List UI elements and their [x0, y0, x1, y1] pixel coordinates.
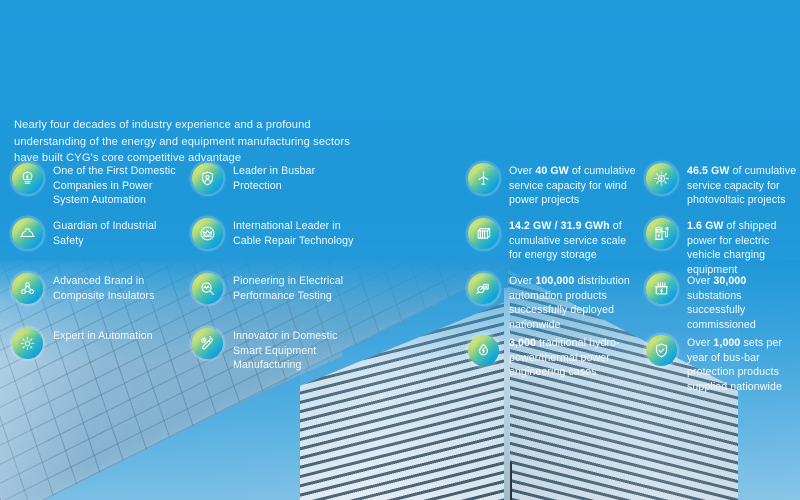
list-item[interactable]: Guardian of Industrial Safety — [12, 218, 190, 249]
list-item[interactable]: Over 1,000 sets per year of bus-bar prot… — [646, 335, 798, 394]
list-item-label: Innovator in Domestic Smart Equipment Ma… — [233, 328, 367, 373]
list-item-label: 14.2 GW / 31.9 GWh of cumulative service… — [509, 218, 640, 263]
list-item[interactable]: Over 40 GW of cumulative service capacit… — [468, 163, 640, 208]
photovoltaic-sun-icon — [646, 163, 677, 194]
crown-cable-repair-icon — [192, 218, 223, 249]
list-item[interactable]: 3,000 traditional hydro-power/thermal po… — [468, 335, 640, 380]
metric-value: 14.2 GW / 31.9 GWh — [509, 220, 610, 232]
list-item-label: 1.6 GW of shipped power for electric veh… — [687, 218, 798, 277]
list-item-label: One of the First Domestic Companies in P… — [53, 163, 190, 208]
list-item[interactable]: Over 30,000 substations successfully com… — [646, 273, 798, 332]
electrical-testing-icon — [192, 273, 223, 304]
list-item-label: 46.5 GW of cumulative service capacity f… — [687, 163, 798, 208]
list-item[interactable]: Leader in Busbar Protection — [192, 163, 367, 194]
list-item[interactable]: Advanced Brand in Composite Insulators — [12, 273, 190, 304]
metric-value: 3,000 — [509, 337, 536, 349]
metric-value: 46.5 GW — [687, 165, 730, 177]
list-item-label: Guardian of Industrial Safety — [53, 218, 190, 248]
energy-storage-icon — [468, 218, 499, 249]
metric-value: 1,000 — [713, 337, 740, 349]
metric-value: 30,000 — [713, 275, 746, 287]
list-item[interactable]: 1.6 GW of shipped power for electric veh… — [646, 218, 798, 277]
list-item-label: Pioneering in Electrical Performance Tes… — [233, 273, 367, 303]
list-item[interactable]: One of the First Domestic Companies in P… — [12, 163, 190, 208]
list-item[interactable]: Over 100,000 distribution automation pro… — [468, 273, 640, 332]
gear-automation-icon — [12, 328, 43, 359]
list-item-label: Leader in Busbar Protection — [233, 163, 367, 193]
smart-equipment-icon — [192, 328, 223, 359]
list-item[interactable]: International Leader in Cable Repair Tec… — [192, 218, 367, 249]
metric-value: 100,000 — [535, 275, 574, 287]
list-item-label: Over 30,000 substations successfully com… — [687, 273, 798, 332]
hydro-thermal-power-icon — [468, 335, 499, 366]
wind-turbine-icon — [468, 163, 499, 194]
list-item-label: Advanced Brand in Composite Insulators — [53, 273, 190, 303]
list-item[interactable]: 46.5 GW of cumulative service capacity f… — [646, 163, 798, 208]
list-item-label: Over 40 GW of cumulative service capacit… — [509, 163, 640, 208]
hard-hat-icon — [12, 218, 43, 249]
busbar-protection-icon — [192, 163, 223, 194]
metric-value: 1.6 GW — [687, 220, 724, 232]
intro-paragraph: Nearly four decades of industry experien… — [14, 117, 374, 167]
distribution-automation-icon — [468, 273, 499, 304]
poster-content: Nearly four decades of industry experien… — [0, 0, 800, 500]
shield-check-icon — [646, 335, 677, 366]
list-item[interactable]: 14.2 GW / 31.9 GWh of cumulative service… — [468, 218, 640, 263]
list-item[interactable]: Expert in Automation — [12, 328, 190, 359]
list-item-label: Over 100,000 distribution automation pro… — [509, 273, 640, 332]
poster-stage: Nearly four decades of industry experien… — [0, 0, 800, 500]
list-item-label: International Leader in Cable Repair Tec… — [233, 218, 367, 248]
list-item[interactable]: Pioneering in Electrical Performance Tes… — [192, 273, 367, 304]
ev-charging-icon — [646, 218, 677, 249]
metric-value: 40 GW — [535, 165, 568, 177]
list-item[interactable]: Innovator in Domestic Smart Equipment Ma… — [192, 328, 367, 373]
composite-insulator-icon — [12, 273, 43, 304]
power-system-automation-icon — [12, 163, 43, 194]
list-item-label: 3,000 traditional hydro-power/thermal po… — [509, 335, 640, 380]
substation-icon — [646, 273, 677, 304]
list-item-label: Expert in Automation — [53, 328, 153, 344]
list-item-label: Over 1,000 sets per year of bus-bar prot… — [687, 335, 798, 394]
